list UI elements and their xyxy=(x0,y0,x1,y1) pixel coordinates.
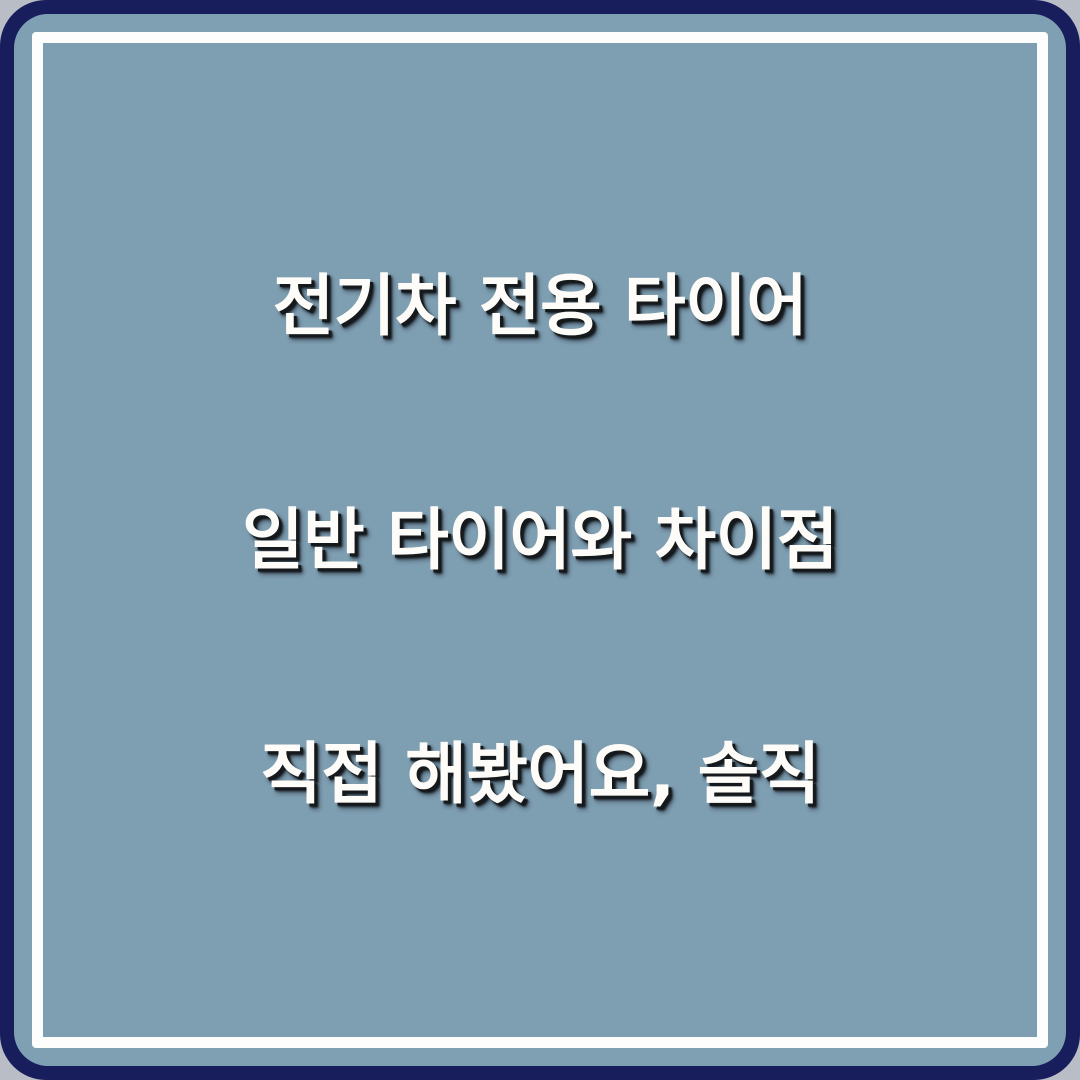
headline-line-1: 전기차 전용 타이어 xyxy=(83,267,997,345)
card-canvas: 전기차 전용 타이어 일반 타이어와 차이점 직접 해봤어요, 솔직 xyxy=(0,0,1080,1080)
headline-line-3: 직접 해봤어요, 솔직 xyxy=(83,735,997,813)
white-accent-band: 전기차 전용 타이어 일반 타이어와 차이점 직접 해봤어요, 솔직 xyxy=(32,32,1048,1048)
headline-text-block: 전기차 전용 타이어 일반 타이어와 차이점 직접 해봤어요, 솔직 xyxy=(43,111,1037,969)
headline-line-2: 일반 타이어와 차이점 xyxy=(83,501,997,579)
card-interior: 전기차 전용 타이어 일반 타이어와 차이점 직접 해봤어요, 솔직 xyxy=(43,43,1037,1037)
blue-accent-band: 전기차 전용 타이어 일반 타이어와 차이점 직접 해봤어요, 솔직 xyxy=(14,14,1066,1066)
navy-border-frame: 전기차 전용 타이어 일반 타이어와 차이점 직접 해봤어요, 솔직 xyxy=(0,0,1080,1080)
